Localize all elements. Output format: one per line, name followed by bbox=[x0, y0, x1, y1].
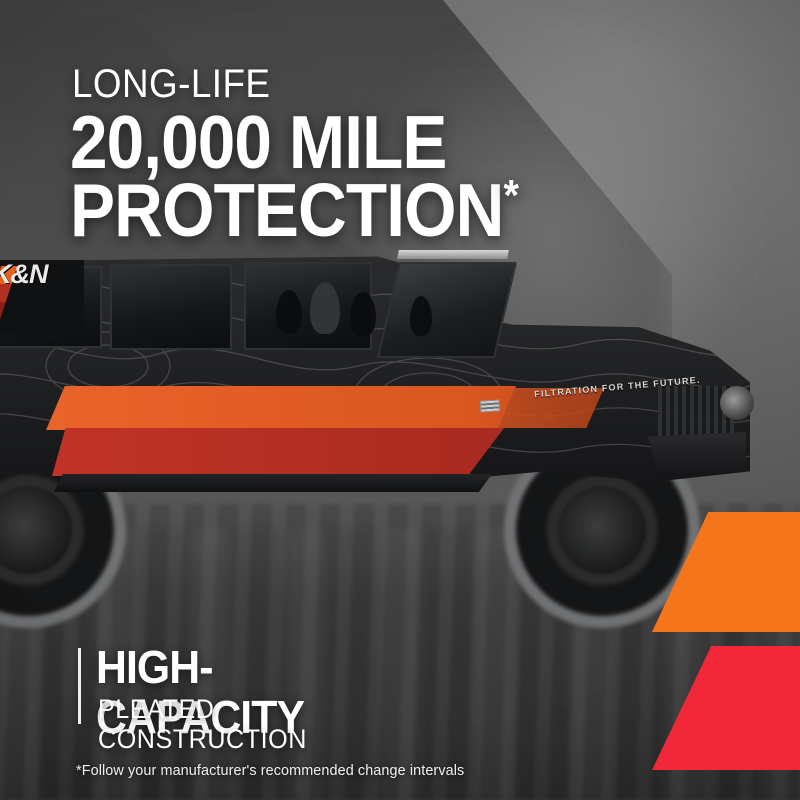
asterisk-marker: * bbox=[504, 171, 519, 220]
footnote-disclaimer: *Follow your manufacturer's recommended … bbox=[76, 762, 464, 780]
headline-line-2-text: PROTECTION bbox=[70, 168, 504, 252]
divider-rule bbox=[78, 648, 81, 724]
promo-banner: K&N FILTRATION FOR THE FUTURE. LONG-LIFE… bbox=[0, 0, 800, 800]
headline-main: 20,000 MILE PROTECTION* bbox=[70, 108, 518, 244]
headline-line-2: PROTECTION* bbox=[70, 176, 518, 244]
headline-line-1: 20,000 MILE bbox=[70, 108, 518, 176]
lower-subtitle: PLEATED CONSTRUCTION bbox=[98, 694, 307, 754]
copy-layer: LONG-LIFE 20,000 MILE PROTECTION* HIGH-C… bbox=[0, 0, 800, 800]
